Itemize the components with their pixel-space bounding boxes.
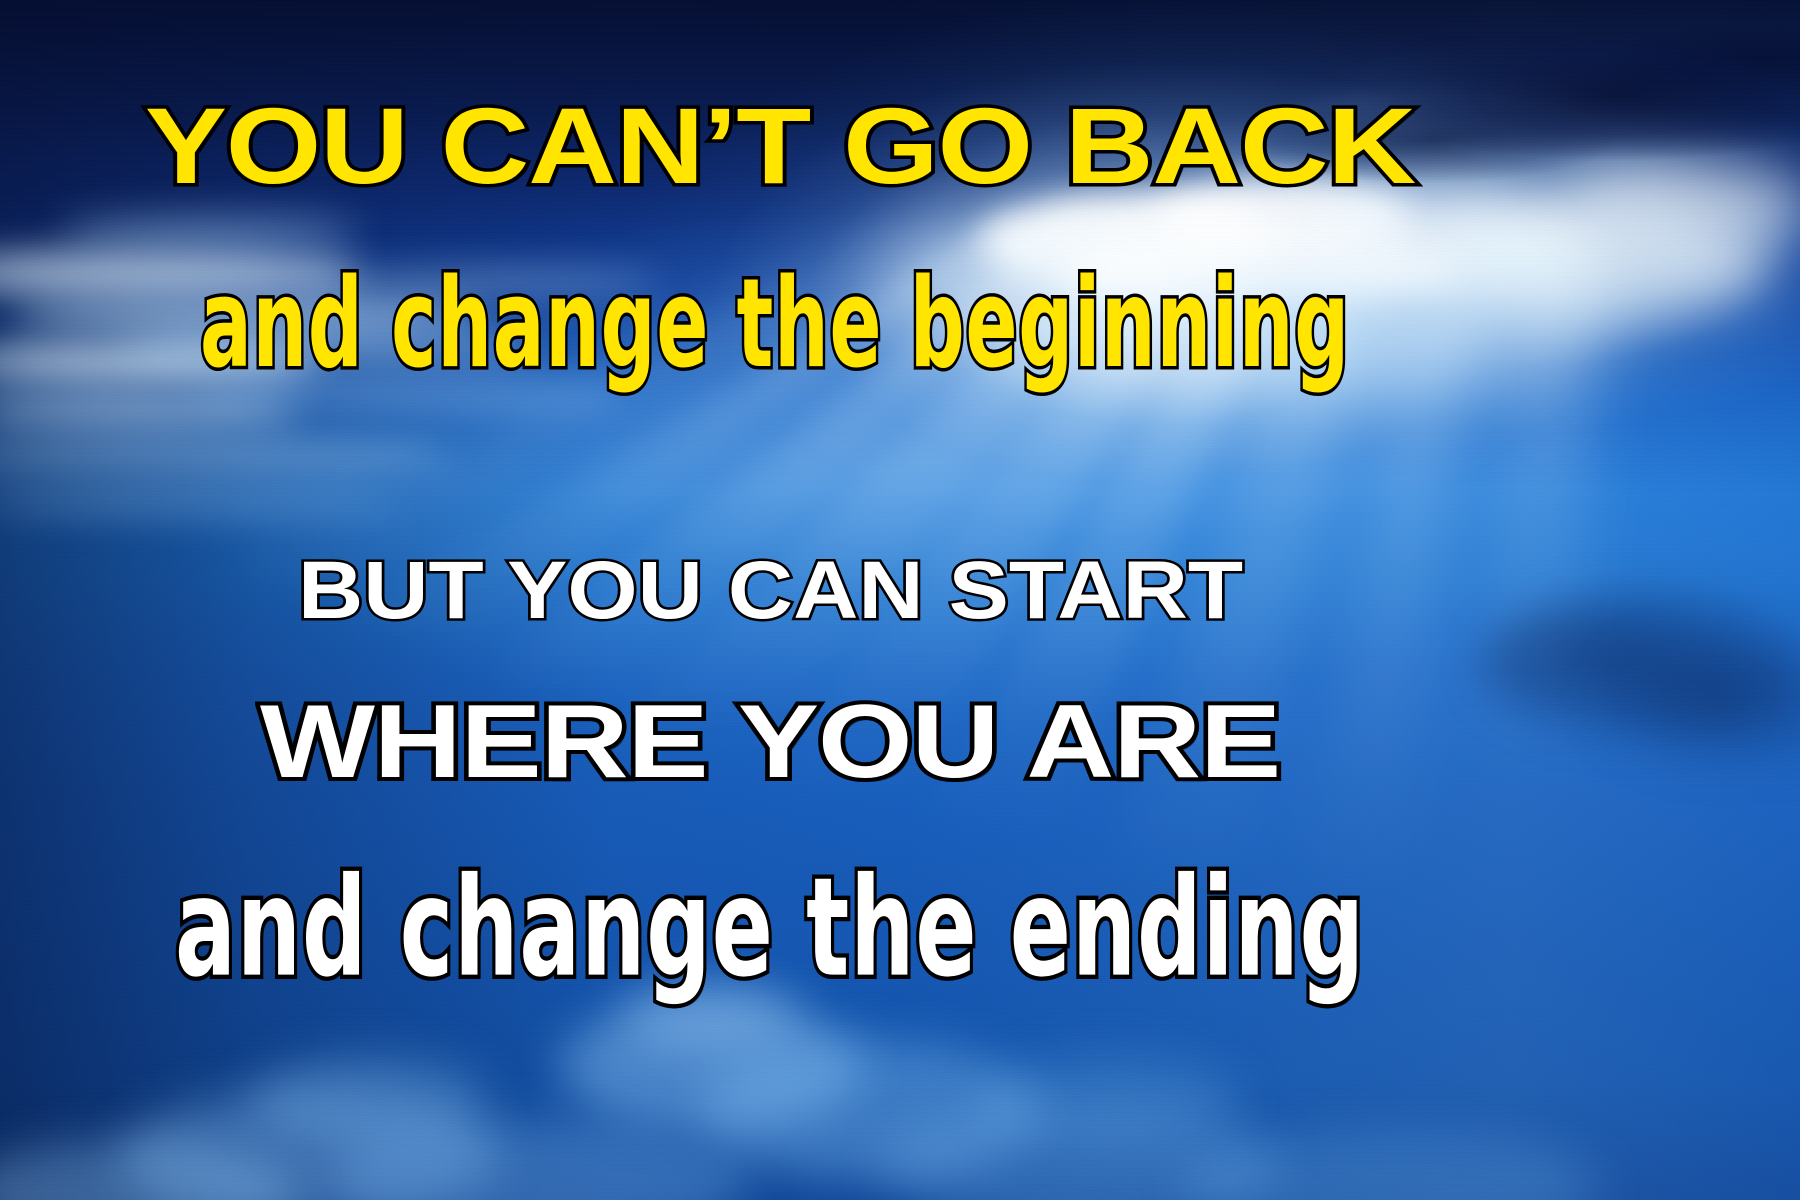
quote-line-1: YOU CAN’T GO BACK bbox=[145, 92, 1415, 200]
quote-text-block: YOU CAN’T GO BACK and change the beginni… bbox=[0, 0, 1800, 1200]
quote-poster: YOU CAN’T GO BACK and change the beginni… bbox=[0, 0, 1800, 1200]
quote-line-3: BUT YOU CAN START bbox=[298, 550, 1243, 632]
quote-line-2: and change the beginning bbox=[200, 262, 1350, 385]
quote-line-5: and change the ending bbox=[175, 860, 1365, 997]
quote-line-4: WHERE YOU ARE bbox=[260, 690, 1280, 794]
